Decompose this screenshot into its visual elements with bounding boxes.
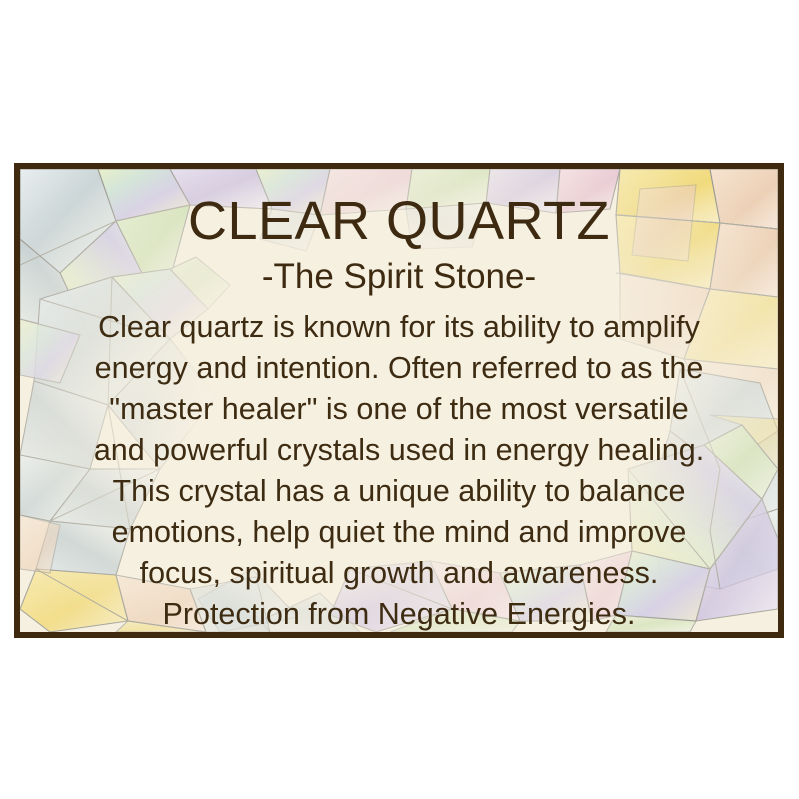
card-text-layer: CLEAR QUARTZ -The Spirit Stone- Clear qu… [20,169,778,632]
card-body-text: Clear quartz is known for its ability to… [20,307,778,632]
body-line: Clear quartz is known for its ability to… [20,307,778,348]
body-line: energy and intention. Often referred to … [20,348,778,389]
crystal-info-card: CLEAR QUARTZ -The Spirit Stone- Clear qu… [14,163,784,638]
body-line: This crystal has a unique ability to bal… [20,471,778,512]
page-title: CLEAR QUARTZ [188,194,610,248]
card-inner-surface: CLEAR QUARTZ -The Spirit Stone- Clear qu… [20,169,778,632]
body-line: emotions, help quiet the mind and improv… [20,512,778,553]
body-line: focus, spiritual growth and awareness. [20,553,778,594]
body-line: Protection from Negative Energies. [20,594,778,632]
body-line: "master healer" is one of the most versa… [20,389,778,430]
body-line: and powerful crystals used in energy hea… [20,430,778,471]
card-subtitle: -The Spirit Stone- [262,259,536,294]
